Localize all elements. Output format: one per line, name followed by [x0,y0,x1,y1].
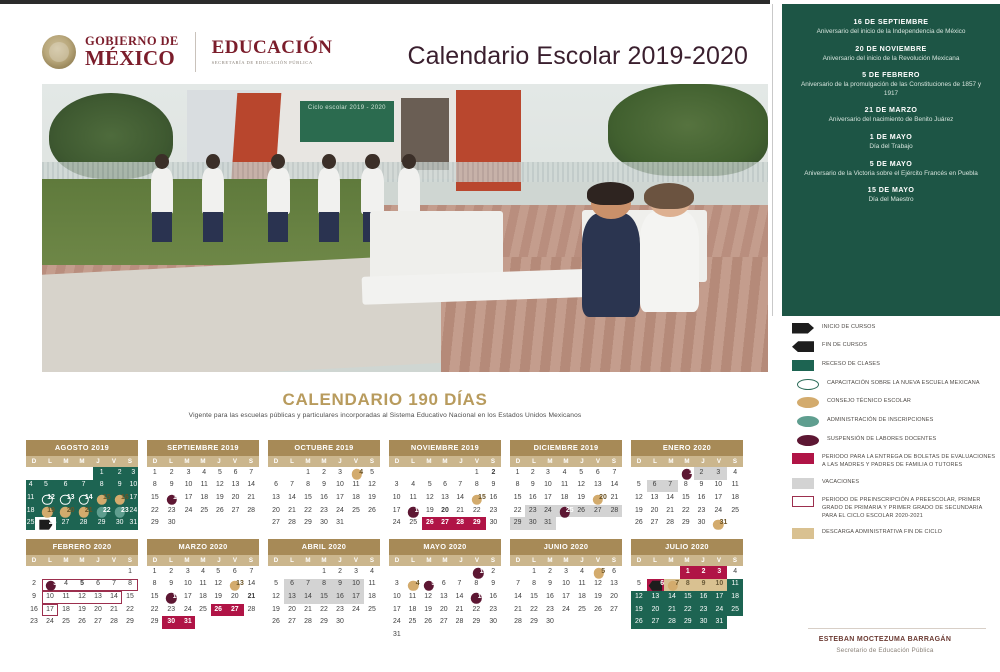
day-cell[interactable]: 14 [662,492,678,505]
day-cell[interactable]: 10 [540,480,555,493]
day-cell[interactable]: 17 [389,604,405,617]
day-cell[interactable]: 27 [228,505,244,518]
day-cell[interactable]: 29 [93,517,111,530]
day-cell[interactable]: 22 [680,604,696,617]
day-cell[interactable]: 1 [147,566,162,579]
day-cell[interactable]: 2 [26,579,42,592]
day-cell[interactable]: 8 [316,579,332,592]
day-cell[interactable]: 27 [436,616,452,629]
day-cell[interactable]: 27 [268,517,284,530]
day-cell[interactable]: 8 [147,480,163,493]
day-cell[interactable]: 14 [106,591,122,604]
day-cell[interactable]: 6 [226,566,244,579]
day-cell[interactable]: 29 [316,616,332,629]
day-cell[interactable]: 19 [631,505,647,518]
day-cell[interactable]: 5 [74,579,90,592]
day-cell[interactable]: 25 [58,616,74,629]
day-cell[interactable]: 26 [574,505,589,518]
day-cell[interactable]: 2 [525,467,540,480]
day-cell[interactable]: 25 [574,604,590,617]
day-cell[interactable]: 26 [590,604,606,617]
day-cell[interactable]: 2 [332,566,348,579]
day-cell[interactable]: 24 [332,505,348,518]
day-cell[interactable]: 14 [300,591,316,604]
day-cell[interactable]: 28 [244,604,259,617]
day-cell[interactable]: 22 [122,604,138,617]
day-cell[interactable]: 7 [453,480,468,493]
day-cell[interactable]: 14 [453,492,468,505]
day-cell[interactable]: 19 [35,505,56,518]
day-cell[interactable]: 28 [453,517,468,530]
day-cell[interactable]: 20 [228,492,244,505]
day-cell[interactable]: 1 [678,467,694,480]
day-cell[interactable]: 29 [147,517,163,530]
day-cell[interactable]: 3 [389,480,404,493]
day-cell[interactable]: 24 [42,616,58,629]
day-cell[interactable]: 24 [129,505,138,518]
day-cell[interactable]: 11 [195,579,210,592]
day-cell[interactable]: 2 [162,566,180,579]
day-cell[interactable]: 6 [268,480,284,493]
day-cell[interactable]: 13 [228,480,244,493]
day-cell[interactable]: 21 [284,505,300,518]
day-cell[interactable]: 17 [558,591,574,604]
day-cell[interactable]: 8 [510,480,525,493]
day-cell[interactable]: 24 [389,616,405,629]
day-cell[interactable]: 20 [647,604,664,617]
day-cell[interactable]: 6 [228,467,244,480]
day-cell[interactable]: 31 [332,517,348,530]
day-cell[interactable]: 27 [589,505,607,518]
day-cell[interactable]: 18 [574,591,590,604]
day-cell[interactable]: 19 [574,492,589,505]
day-cell[interactable]: 21 [452,604,468,617]
day-cell[interactable]: 27 [647,517,663,530]
day-cell[interactable]: 29 [468,517,486,530]
day-cell[interactable]: 14 [664,591,680,604]
day-cell[interactable]: 3 [348,566,364,579]
day-cell[interactable]: 14 [243,480,259,493]
day-cell[interactable]: 21 [244,591,259,604]
day-cell[interactable]: 5 [35,480,56,493]
day-cell[interactable]: 3 [180,566,195,579]
day-cell[interactable]: 19 [420,604,436,617]
day-cell[interactable]: 23 [694,505,710,518]
day-cell[interactable]: 7 [452,579,468,592]
day-cell[interactable]: 16 [696,591,712,604]
day-cell[interactable]: 20 [56,505,74,518]
day-cell[interactable]: 5 [364,467,380,480]
day-cell[interactable]: 23 [696,604,712,617]
day-cell[interactable]: 19 [590,591,606,604]
day-cell[interactable]: 7 [664,579,680,592]
day-cell[interactable]: 28 [452,616,468,629]
day-cell[interactable]: 20 [589,492,607,505]
day-cell[interactable]: 28 [664,616,680,629]
day-cell[interactable]: 10 [332,480,348,493]
day-cell[interactable]: 10 [389,591,405,604]
day-cell[interactable]: 17 [42,604,58,617]
day-cell[interactable]: 14 [510,591,526,604]
day-cell[interactable]: 6 [284,579,300,592]
day-cell[interactable]: 3 [711,566,727,579]
day-cell[interactable]: 8 [680,579,696,592]
day-cell[interactable]: 1 [526,566,542,579]
day-cell[interactable]: 20 [606,591,622,604]
day-cell[interactable]: 29 [122,616,138,629]
day-cell[interactable]: 26 [420,616,436,629]
day-cell[interactable]: 25 [727,604,743,617]
day-cell[interactable]: 1 [93,467,111,480]
day-cell[interactable]: 13 [226,579,244,592]
day-cell[interactable]: 13 [56,492,74,505]
day-cell[interactable]: 25 [404,517,422,530]
day-cell[interactable]: 4 [364,566,380,579]
day-cell[interactable]: 23 [163,505,181,518]
day-cell[interactable]: 21 [300,604,316,617]
day-cell[interactable]: 4 [195,566,210,579]
day-cell[interactable]: 14 [452,591,468,604]
day-cell[interactable]: 23 [26,616,42,629]
day-cell[interactable]: 18 [405,604,421,617]
day-cell[interactable]: 21 [106,604,122,617]
day-cell[interactable]: 21 [243,492,259,505]
day-cell[interactable]: 17 [332,492,348,505]
day-cell[interactable]: 26 [631,616,647,629]
day-cell[interactable]: 3 [389,579,405,592]
day-cell[interactable]: 22 [147,505,163,518]
day-cell[interactable]: 2 [163,467,181,480]
day-cell[interactable]: 25 [348,505,364,518]
day-cell[interactable]: 17 [711,591,727,604]
day-cell[interactable]: 10 [709,480,727,493]
day-cell[interactable]: 9 [162,579,180,592]
day-cell[interactable]: 13 [268,492,284,505]
day-cell[interactable]: 11 [405,591,421,604]
day-cell[interactable]: 27 [90,616,106,629]
day-cell[interactable]: 25 [195,604,210,617]
day-cell[interactable]: 17 [709,492,727,505]
day-cell[interactable]: 5 [422,480,437,493]
day-cell[interactable]: 28 [300,616,316,629]
day-cell[interactable]: 4 [348,467,364,480]
day-cell[interactable]: 23 [525,505,540,518]
day-cell[interactable]: 22 [467,604,485,617]
day-cell[interactable]: 7 [510,579,526,592]
day-cell[interactable]: 27 [56,517,74,530]
day-cell[interactable]: 3 [332,467,348,480]
day-cell[interactable]: 21 [453,505,468,518]
day-cell[interactable]: 30 [163,517,181,530]
day-cell[interactable]: 12 [574,480,589,493]
day-cell[interactable]: 13 [589,480,607,493]
day-cell[interactable]: 16 [486,492,501,505]
day-cell[interactable]: 23 [111,505,129,518]
day-cell[interactable]: 9 [694,480,710,493]
day-cell[interactable]: 1 [147,467,163,480]
day-cell[interactable]: 31 [180,616,195,629]
day-cell[interactable]: 26 [35,517,56,530]
day-cell[interactable]: 1 [468,467,486,480]
day-cell[interactable]: 30 [485,616,501,629]
day-cell[interactable]: 29 [510,517,525,530]
day-cell[interactable]: 25 [364,604,380,617]
day-cell[interactable]: 13 [606,579,622,592]
day-cell[interactable]: 24 [711,604,727,617]
day-cell[interactable]: 6 [589,467,607,480]
day-cell[interactable]: 1 [316,566,332,579]
day-cell[interactable]: 6 [606,566,622,579]
day-cell[interactable]: 5 [212,467,228,480]
day-cell[interactable]: 26 [364,505,380,518]
day-cell[interactable]: 11 [727,480,743,493]
day-cell[interactable]: 6 [436,579,452,592]
day-cell[interactable]: 25 [26,517,35,530]
day-cell[interactable]: 15 [316,591,332,604]
day-cell[interactable]: 29 [300,517,316,530]
day-cell[interactable]: 5 [631,579,647,592]
day-cell[interactable]: 28 [243,505,259,518]
day-cell[interactable]: 18 [556,492,574,505]
day-cell[interactable]: 18 [727,591,743,604]
day-cell[interactable]: 29 [680,616,696,629]
day-cell[interactable]: 11 [574,579,590,592]
day-cell[interactable]: 16 [542,591,558,604]
day-cell[interactable]: 18 [404,505,422,518]
day-cell[interactable]: 5 [631,480,647,493]
day-cell[interactable]: 8 [678,480,694,493]
day-cell[interactable]: 27 [226,604,244,617]
day-cell[interactable]: 26 [631,517,647,530]
day-cell[interactable]: 21 [75,505,93,518]
day-cell[interactable]: 1 [122,566,138,579]
day-cell[interactable]: 14 [607,480,622,493]
day-cell[interactable]: 9 [486,480,501,493]
day-cell[interactable]: 4 [404,480,422,493]
day-cell[interactable]: 30 [316,517,332,530]
day-cell[interactable]: 11 [196,480,212,493]
day-cell[interactable]: 25 [196,505,212,518]
day-cell[interactable]: 10 [389,492,404,505]
day-cell[interactable]: 17 [389,505,404,518]
day-cell[interactable]: 20 [436,604,452,617]
day-cell[interactable]: 12 [211,579,226,592]
day-cell[interactable]: 10 [348,579,364,592]
day-cell[interactable]: 4 [26,480,35,493]
day-cell[interactable]: 2 [694,467,710,480]
day-cell[interactable]: 17 [540,492,555,505]
day-cell[interactable]: 1 [300,467,316,480]
day-cell[interactable]: 11 [26,492,35,505]
day-cell[interactable]: 29 [678,517,694,530]
day-cell[interactable]: 12 [212,480,228,493]
day-cell[interactable]: 6 [647,579,664,592]
day-cell[interactable]: 3 [540,467,555,480]
day-cell[interactable]: 8 [526,579,542,592]
day-cell[interactable]: 20 [284,604,300,617]
day-cell[interactable]: 2 [485,566,501,579]
day-cell[interactable]: 24 [348,604,364,617]
day-cell[interactable]: 22 [316,604,332,617]
day-cell[interactable]: 26 [74,616,90,629]
day-cell[interactable]: 18 [196,492,212,505]
day-cell[interactable]: 15 [147,492,163,505]
day-cell[interactable]: 24 [558,604,574,617]
day-cell[interactable]: 23 [486,505,501,518]
day-cell[interactable]: 24 [389,517,404,530]
day-cell[interactable]: 16 [485,591,501,604]
day-cell[interactable]: 12 [35,492,56,505]
day-cell[interactable]: 4 [405,579,421,592]
day-cell[interactable]: 3 [558,566,574,579]
day-cell[interactable]: 19 [631,604,647,617]
day-cell[interactable]: 10 [42,591,58,604]
day-cell[interactable]: 17 [181,492,197,505]
day-cell[interactable]: 20 [437,505,452,518]
day-cell[interactable]: 6 [56,480,74,493]
day-cell[interactable]: 15 [467,591,485,604]
day-cell[interactable]: 5 [574,467,589,480]
day-cell[interactable]: 5 [268,579,284,592]
day-cell[interactable]: 19 [211,591,226,604]
day-cell[interactable]: 23 [316,505,332,518]
day-cell[interactable]: 7 [300,579,316,592]
day-cell[interactable]: 27 [606,604,622,617]
day-cell[interactable]: 8 [468,480,486,493]
day-cell[interactable]: 23 [542,604,558,617]
day-cell[interactable]: 12 [422,492,437,505]
day-cell[interactable]: 25 [727,505,743,518]
day-cell[interactable]: 30 [696,616,712,629]
day-cell[interactable]: 22 [510,505,525,518]
day-cell[interactable]: 3 [181,467,197,480]
day-cell[interactable]: 12 [420,591,436,604]
day-cell[interactable]: 28 [284,517,300,530]
day-cell[interactable]: 12 [74,591,90,604]
day-cell[interactable]: 4 [196,467,212,480]
day-cell[interactable]: 2 [111,467,129,480]
day-cell[interactable]: 19 [422,505,437,518]
day-cell[interactable]: 19 [268,604,284,617]
day-cell[interactable]: 19 [74,604,90,617]
day-cell[interactable]: 31 [709,517,727,530]
day-cell[interactable]: 29 [467,616,485,629]
day-cell[interactable]: 28 [106,616,122,629]
day-cell[interactable]: 16 [525,492,540,505]
day-cell[interactable]: 11 [404,492,422,505]
day-cell[interactable]: 26 [268,616,284,629]
day-cell[interactable]: 15 [93,492,111,505]
day-cell[interactable]: 9 [111,480,129,493]
day-cell[interactable]: 9 [316,480,332,493]
day-cell[interactable]: 7 [243,467,259,480]
day-cell[interactable]: 22 [526,604,542,617]
day-cell[interactable]: 4 [574,566,590,579]
day-cell[interactable]: 25 [556,505,574,518]
day-cell[interactable]: 2 [696,566,712,579]
day-cell[interactable]: 12 [268,591,284,604]
day-cell[interactable]: 16 [332,591,348,604]
day-cell[interactable]: 27 [437,517,452,530]
day-cell[interactable]: 2 [316,467,332,480]
day-cell[interactable]: 18 [348,492,364,505]
day-cell[interactable]: 9 [525,480,540,493]
day-cell[interactable]: 15 [300,492,316,505]
day-cell[interactable]: 2 [486,467,501,480]
day-cell[interactable]: 8 [300,480,316,493]
day-cell[interactable]: 30 [111,517,129,530]
day-cell[interactable]: 9 [332,579,348,592]
day-cell[interactable]: 5 [590,566,606,579]
day-cell[interactable]: 4 [727,467,743,480]
day-cell[interactable]: 13 [647,492,663,505]
day-cell[interactable]: 26 [422,517,437,530]
day-cell[interactable]: 16 [26,604,42,617]
day-cell[interactable]: 13 [647,591,664,604]
day-cell[interactable]: 7 [244,566,259,579]
day-cell[interactable]: 1 [510,467,525,480]
day-cell[interactable]: 4 [727,566,743,579]
day-cell[interactable]: 1 [680,566,696,579]
day-cell[interactable]: 21 [662,505,678,518]
day-cell[interactable]: 12 [631,492,647,505]
day-cell[interactable]: 21 [664,604,680,617]
day-cell[interactable]: 16 [694,492,710,505]
day-cell[interactable]: 31 [540,517,555,530]
day-cell[interactable]: 16 [162,591,180,604]
day-cell[interactable]: 7 [106,579,122,592]
day-cell[interactable]: 6 [647,480,663,493]
day-cell[interactable]: 13 [436,591,452,604]
day-cell[interactable]: 6 [90,579,106,592]
day-cell[interactable]: 18 [26,505,35,518]
day-cell[interactable]: 28 [662,517,678,530]
day-cell[interactable]: 24 [181,505,197,518]
day-cell[interactable]: 7 [662,480,678,493]
day-cell[interactable]: 17 [180,591,195,604]
day-cell[interactable]: 4 [58,579,74,592]
day-cell[interactable]: 20 [90,604,106,617]
day-cell[interactable]: 24 [709,505,727,518]
day-cell[interactable]: 20 [226,591,244,604]
day-cell[interactable]: 15 [680,591,696,604]
day-cell[interactable]: 10 [711,579,727,592]
day-cell[interactable]: 30 [542,616,558,629]
day-cell[interactable]: 23 [332,604,348,617]
day-cell[interactable]: 8 [147,579,162,592]
day-cell[interactable]: 30 [162,616,180,629]
day-cell[interactable]: 20 [647,505,663,518]
day-cell[interactable]: 23 [162,604,180,617]
day-cell[interactable]: 1 [467,566,485,579]
day-cell[interactable]: 2 [542,566,558,579]
day-cell[interactable]: 26 [212,505,228,518]
day-cell[interactable]: 10 [181,480,197,493]
day-cell[interactable]: 14 [284,492,300,505]
day-cell[interactable]: 10 [180,579,195,592]
day-cell[interactable]: 22 [300,505,316,518]
day-cell[interactable]: 15 [147,591,162,604]
day-cell[interactable]: 23 [485,604,501,617]
day-cell[interactable]: 27 [284,616,300,629]
day-cell[interactable]: 28 [607,505,622,518]
day-cell[interactable]: 31 [711,616,727,629]
day-cell[interactable]: 22 [93,505,111,518]
day-cell[interactable]: 11 [348,480,364,493]
day-cell[interactable]: 3 [42,579,58,592]
day-cell[interactable]: 12 [631,591,647,604]
day-cell[interactable]: 11 [727,579,743,592]
